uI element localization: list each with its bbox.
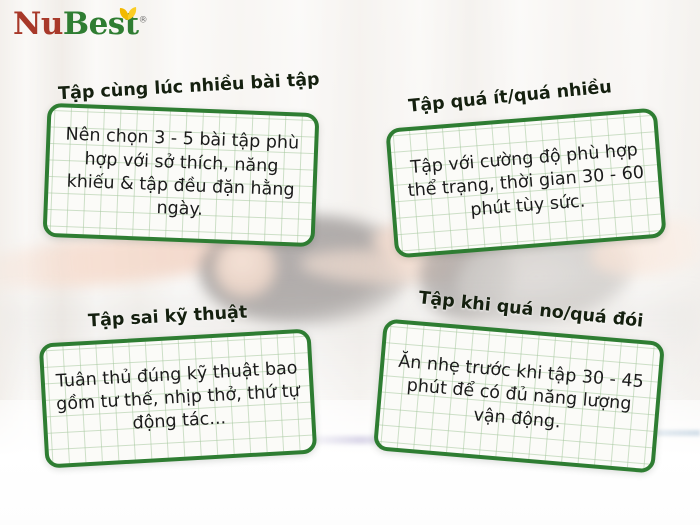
logo-text-nu: Nu — [13, 6, 63, 42]
card-body-wrong-technique: Tuân thủ đúng kỹ thuật bao gồm tư thế, n… — [44, 356, 311, 440]
info-card-too-full-too-hungry: Ăn nhẹ trước khi tập 30 - 45 phút để có … — [373, 318, 665, 473]
nubest-logo[interactable]: NuBest® — [13, 9, 147, 40]
card-body-too-little-too-much: Tập với cường độ phù hợp thể trạng, thời… — [392, 138, 661, 228]
info-card-too-little-too-much: Tập với cường độ phù hợp thể trạng, thời… — [385, 108, 666, 259]
info-card-wrong-technique: Tuân thủ đúng kỹ thuật bao gồm tư thế, n… — [39, 329, 318, 469]
leaf-icon — [117, 6, 139, 22]
registered-trademark-symbol: ® — [139, 16, 148, 26]
card-body-multiple-exercises: Nên chọn 3 - 5 bài tập phù hợp với sở th… — [47, 123, 314, 226]
infographic-canvas: NuBest® Tập cùng lúc nhiều bài tập Nên c… — [0, 0, 700, 525]
info-card-multiple-exercises: Nên chọn 3 - 5 bài tập phù hợp với sở th… — [43, 103, 320, 247]
card-body-too-full-too-hungry: Ăn nhẹ trước khi tập 30 - 45 phút để có … — [380, 350, 659, 442]
